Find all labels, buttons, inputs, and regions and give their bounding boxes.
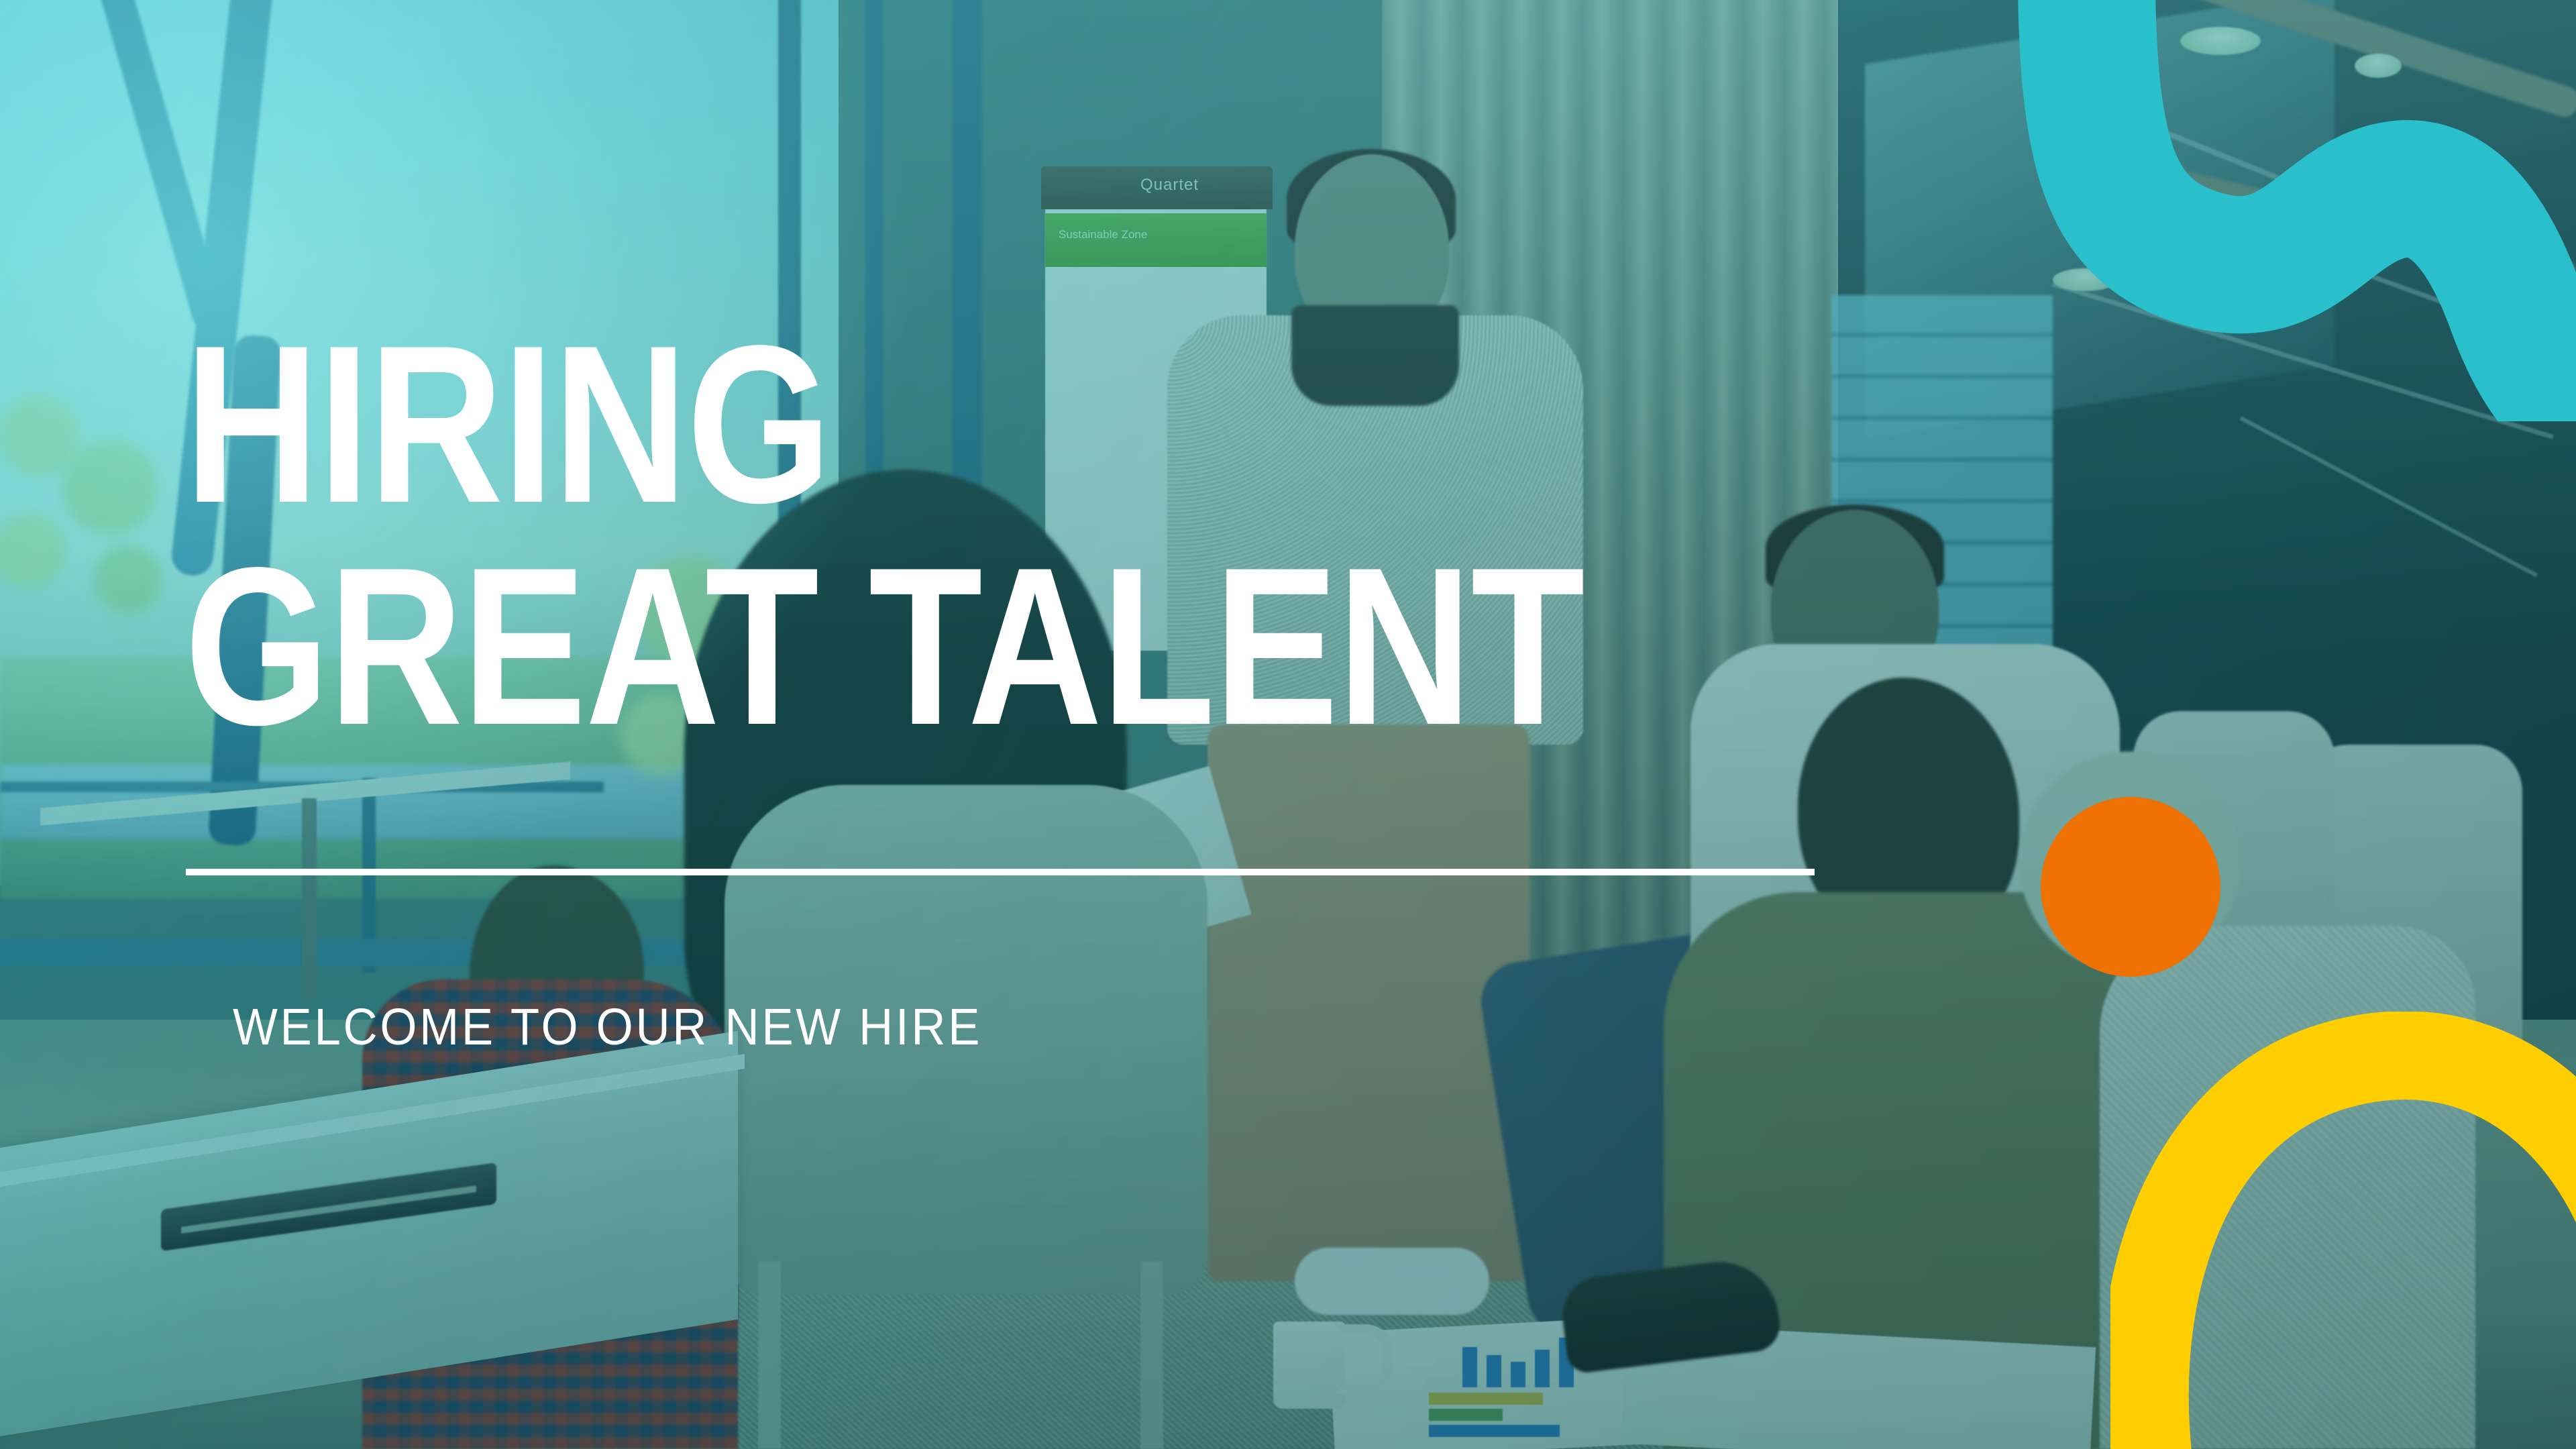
headline-line-2: GREAT TALENT — [184, 537, 1632, 755]
orange-circle-shape — [2041, 797, 2220, 977]
subtitle: WELCOME TO OUR NEW HIRE — [233, 998, 982, 1057]
headline-divider — [186, 869, 1815, 875]
yellow-arc-shape — [2110, 1012, 2576, 1449]
headline-line-1: HIRING — [184, 315, 1632, 533]
hiring-banner: Quartet Sustainable Zone — [0, 0, 2576, 1449]
headline-block: HIRING GREAT TALENT — [184, 315, 1929, 755]
teal-wave-shape — [2006, 0, 2576, 421]
